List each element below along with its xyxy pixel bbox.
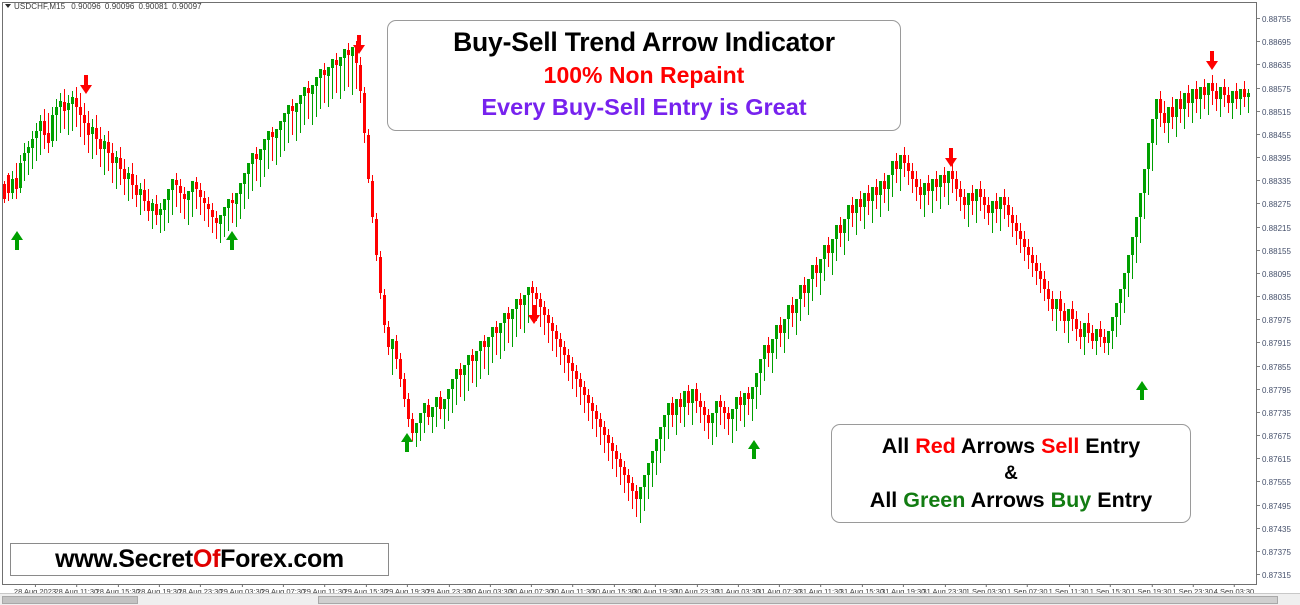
candle-body <box>439 397 442 409</box>
candle-body <box>1091 333 1094 341</box>
candle-body <box>851 205 854 213</box>
price-tick-label: 0.87915 <box>1262 339 1291 348</box>
triangle-down-icon[interactable] <box>5 4 11 8</box>
candle-wick <box>60 93 61 133</box>
candle-body <box>619 459 622 467</box>
candle-body <box>815 265 818 273</box>
candle-wick <box>724 401 725 429</box>
candle-body <box>1235 91 1238 99</box>
candle-body <box>1027 247 1030 255</box>
candle-wick <box>36 123 37 161</box>
candle-body <box>47 133 50 143</box>
buy-arrow-up-icon <box>399 433 415 453</box>
candle-body <box>771 339 774 353</box>
candle-body <box>551 323 554 331</box>
candle-body <box>115 157 118 163</box>
candle-body <box>387 327 390 347</box>
candle-body <box>155 204 158 215</box>
candle-wick <box>600 413 601 445</box>
symbol-ohlc-header: USDCHF,M150.900960.900960.900810.90097 <box>5 2 206 11</box>
candle-body <box>435 397 438 407</box>
candle-body <box>447 389 450 399</box>
price-axis-tick: 0.88155 <box>1257 247 1291 257</box>
candle-wick <box>636 485 637 517</box>
candle-wick <box>596 405 597 437</box>
candle-body <box>911 171 914 179</box>
candle-body <box>399 359 402 379</box>
candle-body <box>971 193 974 201</box>
price-tick-label: 0.87495 <box>1262 502 1291 511</box>
scrollbar-thumb-secondary[interactable] <box>2 596 138 604</box>
candle-body <box>459 369 462 375</box>
candle-body <box>139 189 142 195</box>
candle-body <box>315 77 318 86</box>
candle-body <box>91 127 94 134</box>
price-tick-label: 0.88635 <box>1262 61 1291 70</box>
price-tick-label: 0.88215 <box>1262 224 1291 233</box>
candle-wick <box>608 429 609 461</box>
symbol-label: USDCHF,M15 <box>14 2 65 11</box>
candle-body <box>979 189 982 197</box>
candle-body <box>687 391 690 403</box>
candle-body <box>487 337 490 347</box>
candle-wick <box>212 203 213 233</box>
candle-body <box>1099 329 1102 337</box>
candle-body <box>279 121 282 130</box>
candle-wick <box>256 147 257 181</box>
candle-body <box>55 107 58 115</box>
candle-body <box>211 210 214 217</box>
candle-wick <box>140 183 141 215</box>
candle-body <box>967 193 970 205</box>
candle-body <box>843 219 846 233</box>
candle-body <box>1215 91 1218 99</box>
candle-body <box>775 325 778 339</box>
candle-body <box>303 87 306 96</box>
price-axis-tick: 0.87735 <box>1257 409 1291 419</box>
candle-body <box>531 287 534 293</box>
candle-body <box>1187 93 1190 103</box>
candle-body <box>1243 89 1246 97</box>
ohlc-values: 0.900960.900960.900810.90097 <box>71 2 206 11</box>
price-axis-tick: 0.88755 <box>1257 15 1291 25</box>
candle-body <box>1207 83 1210 95</box>
candle-body <box>975 189 978 201</box>
candle-body <box>819 259 822 273</box>
candle-body <box>483 341 486 347</box>
candle-body <box>927 183 930 191</box>
ohlc-low: 0.90081 <box>138 2 168 11</box>
candle-wick <box>580 373 581 405</box>
price-axis-tick: 0.87315 <box>1257 571 1291 581</box>
candle-body <box>699 401 702 407</box>
candle-body <box>507 313 510 319</box>
candle-body <box>555 331 558 339</box>
candle-body <box>923 183 926 195</box>
candle-body <box>83 115 86 123</box>
candle-body <box>591 403 594 411</box>
candle-body <box>1239 89 1242 99</box>
candle-body <box>1151 119 1154 143</box>
candle-body <box>71 97 74 104</box>
metatrader-chart-window: USDCHF,M150.900960.900960.900810.90097 0… <box>0 0 1300 605</box>
candle-body <box>327 67 330 76</box>
candle-body <box>503 313 506 323</box>
candle-body <box>267 131 270 140</box>
candle-body <box>467 355 470 365</box>
candle-body <box>251 153 254 164</box>
candle-body <box>1063 311 1066 321</box>
candle-body <box>491 327 494 337</box>
candle-body <box>759 359 762 373</box>
candle-wick <box>740 391 741 421</box>
candle-body <box>367 135 370 179</box>
candle-body <box>471 355 474 361</box>
sell-arrow-down-icon <box>526 305 542 325</box>
candle-body <box>747 393 750 399</box>
candle-body <box>75 98 78 107</box>
candle-body <box>1011 215 1014 223</box>
candle-body <box>939 175 942 187</box>
candle-wick <box>180 179 181 213</box>
candle-body <box>1111 317 1114 331</box>
candle-body <box>495 327 498 333</box>
candle-body <box>479 341 482 351</box>
candle-body <box>127 173 130 179</box>
candle-body <box>1123 273 1126 289</box>
candle-body <box>107 142 110 153</box>
candle-body <box>731 409 734 419</box>
candle-body <box>35 131 38 138</box>
price-axis-tick: 0.88275 <box>1257 200 1291 210</box>
price-axis-tick: 0.87855 <box>1257 363 1291 373</box>
candle-body <box>43 121 46 135</box>
candle-body <box>751 387 754 399</box>
candle-body <box>875 187 878 195</box>
watermark-url: www.SecretOfForex.com <box>55 545 344 574</box>
candle-body <box>1019 231 1022 239</box>
candle-body <box>571 363 574 371</box>
candle-body <box>451 379 454 389</box>
price-axis-tick: 0.87495 <box>1257 502 1291 512</box>
candle-body <box>1083 323 1086 337</box>
candle-body <box>103 141 106 149</box>
candle-body <box>655 439 658 451</box>
candle-body <box>363 93 366 133</box>
candle-body <box>1015 223 1018 231</box>
price-axis-tick: 0.88095 <box>1257 270 1291 280</box>
candle-body <box>579 379 582 387</box>
price-axis-tick: 0.87375 <box>1257 548 1291 558</box>
candle-body <box>887 175 890 189</box>
price-axis-tick: 0.87675 <box>1257 432 1291 442</box>
price-tick-label: 0.88275 <box>1262 200 1291 209</box>
candle-body <box>891 161 894 175</box>
candle-body <box>239 183 242 194</box>
candle-body <box>799 285 802 299</box>
candle-wick <box>68 95 69 135</box>
candle-wick <box>592 397 593 429</box>
candle-body <box>123 169 126 179</box>
buy-arrow-up-icon <box>224 231 240 251</box>
candle-body <box>651 451 654 463</box>
candle-body <box>963 197 966 205</box>
candle-wick <box>728 407 729 435</box>
candle-body <box>855 199 858 213</box>
candle-body <box>1131 237 1134 255</box>
price-axis-tick: 0.88695 <box>1257 38 1291 48</box>
price-axis-tick: 0.88575 <box>1257 85 1291 95</box>
candle-body <box>179 186 182 193</box>
candle-body <box>1195 89 1198 99</box>
scrollbar-thumb-main[interactable] <box>318 596 1278 604</box>
candle-body <box>419 413 422 423</box>
candle-wick <box>604 421 605 453</box>
candle-wick <box>160 203 161 233</box>
price-tick-label: 0.87435 <box>1262 525 1291 534</box>
candle-body <box>331 59 334 68</box>
candle-body <box>235 193 238 204</box>
candle-body <box>991 201 994 213</box>
candle-body <box>627 475 630 483</box>
candle-body <box>147 201 150 211</box>
candle-body <box>1167 107 1170 123</box>
candle-body <box>1147 143 1150 169</box>
price-tick-label: 0.87675 <box>1262 432 1291 441</box>
candle-body <box>575 371 578 379</box>
candle-body <box>427 405 430 417</box>
candle-body <box>391 339 394 349</box>
legend-sell-part-0: All <box>882 434 915 458</box>
candle-body <box>567 355 570 363</box>
title-line-3: Every Buy-Sell Entry is Great <box>388 91 900 124</box>
candle-body <box>807 279 810 293</box>
candle-body <box>275 129 278 138</box>
candle-body <box>175 180 178 185</box>
candle-body <box>739 397 742 405</box>
candle-body <box>763 345 766 359</box>
candle-body <box>831 239 834 253</box>
candle-body <box>1223 87 1226 95</box>
candle-body <box>595 411 598 419</box>
candle-wick <box>632 477 633 509</box>
candle-body <box>191 181 194 192</box>
candle-body <box>1199 87 1202 99</box>
candle-body <box>695 389 698 401</box>
candle-body <box>1231 91 1234 103</box>
legend-line-sell: All Red Arrows Sell Entry <box>832 432 1190 461</box>
candle-body <box>51 115 54 141</box>
candle-body <box>1007 205 1010 215</box>
candle-body <box>339 57 342 66</box>
candle-wick <box>32 131 33 169</box>
candle-body <box>587 395 590 403</box>
candle-body <box>683 391 686 407</box>
candle-body <box>859 199 862 207</box>
candle-body <box>583 387 586 395</box>
price-tick-label: 0.88095 <box>1262 270 1291 279</box>
candle-body <box>171 179 174 190</box>
candle-wick <box>588 389 589 421</box>
candle-wick <box>336 53 337 93</box>
candle-body <box>347 50 350 55</box>
candle-body <box>779 325 782 333</box>
candle-body <box>919 187 922 195</box>
candle-body <box>455 369 458 379</box>
legend-sell-part-1: Red <box>915 434 956 458</box>
title-line-1: Buy-Sell Trend Arrow Indicator <box>388 26 900 59</box>
candle-body <box>295 103 298 112</box>
price-axis-tick: 0.88635 <box>1257 61 1291 71</box>
watermark-highlight: Of <box>193 545 220 573</box>
candle-wick <box>200 183 201 215</box>
candle-body <box>635 491 638 499</box>
candle-body <box>207 204 210 209</box>
candle-body <box>803 285 806 293</box>
candle-body <box>795 299 798 313</box>
candle-body <box>811 265 814 279</box>
price-axis-tick: 0.87795 <box>1257 386 1291 396</box>
price-tick-label: 0.87975 <box>1262 316 1291 325</box>
candle-body <box>1051 299 1054 309</box>
candle-body <box>167 189 170 200</box>
candle-body <box>519 299 522 305</box>
legend-sell-part-4: Entry <box>1079 434 1140 458</box>
candle-body <box>463 365 466 375</box>
price-tick-label: 0.87735 <box>1262 409 1291 418</box>
candle-wick <box>628 469 629 501</box>
candle-body <box>411 419 414 433</box>
candle-body <box>643 475 646 487</box>
candle-body <box>283 113 286 122</box>
candle-body <box>423 403 426 413</box>
candle-body <box>379 257 382 293</box>
candle-body <box>19 163 22 188</box>
candle-body <box>935 179 938 187</box>
sell-arrow-down-icon <box>1204 51 1220 71</box>
candle-body <box>11 179 14 193</box>
candle-body <box>839 225 842 233</box>
candle-body <box>955 179 958 189</box>
candle-wick <box>76 87 77 127</box>
candle-body <box>311 85 314 94</box>
candle-body <box>639 487 642 499</box>
candle-body <box>99 139 102 149</box>
candle-body <box>827 245 830 253</box>
candle-body <box>647 463 650 475</box>
candle-body <box>1067 309 1070 321</box>
candle-body <box>1071 309 1074 319</box>
candle-body <box>431 407 434 417</box>
price-axis[interactable]: 0.887550.886950.886350.885750.885150.884… <box>1256 2 1300 585</box>
candle-body <box>755 373 758 387</box>
candle-body <box>131 174 134 185</box>
price-tick-label: 0.87315 <box>1262 571 1291 580</box>
candle-body <box>947 171 950 183</box>
candle-body <box>735 397 738 409</box>
candle-body <box>475 351 478 361</box>
candle-body <box>111 153 114 163</box>
candle-body <box>999 197 1002 209</box>
price-tick-label: 0.88575 <box>1262 85 1291 94</box>
candle-body <box>1087 323 1090 333</box>
price-tick-label: 0.88755 <box>1262 15 1291 24</box>
candle-body <box>27 147 30 153</box>
sell-arrow-down-icon <box>943 148 959 168</box>
candle-body <box>863 193 866 207</box>
candle-body <box>259 149 262 160</box>
candle-body <box>263 139 266 150</box>
candle-body <box>1159 99 1162 113</box>
candle-body <box>1247 93 1250 97</box>
candle-body <box>143 190 146 201</box>
candle-body <box>243 173 246 184</box>
candle-body <box>675 399 678 415</box>
watermark-prefix: www.Secret <box>55 545 193 573</box>
candle-body <box>847 205 850 219</box>
candle-body <box>1143 169 1146 193</box>
candle-body <box>559 339 562 347</box>
candle-body <box>599 419 602 427</box>
candle-body <box>631 483 634 491</box>
candle-body <box>1139 193 1142 217</box>
candle-body <box>1227 95 1230 103</box>
candle-wick <box>292 99 293 135</box>
legend-sell-part-2: Arrows <box>956 434 1041 458</box>
price-tick-label: 0.87555 <box>1262 478 1291 487</box>
candle-body <box>95 128 98 139</box>
candle-body <box>1127 255 1130 273</box>
candle-wick <box>564 341 565 373</box>
price-tick-label: 0.87375 <box>1262 548 1291 557</box>
candle-body <box>943 175 946 183</box>
candle-body <box>743 393 746 405</box>
candle-body <box>1107 331 1110 343</box>
candle-wick <box>232 193 233 223</box>
candle-body <box>15 178 18 189</box>
candle-body <box>871 187 874 201</box>
price-tick-label: 0.88155 <box>1262 247 1291 256</box>
candle-wick <box>576 365 577 397</box>
candle-body <box>543 307 546 315</box>
candle-body <box>375 219 378 255</box>
candle-body <box>67 103 70 110</box>
candle-body <box>883 181 886 189</box>
candle-wick <box>616 445 617 477</box>
candle-body <box>163 199 166 210</box>
candle-body <box>723 407 726 413</box>
candle-body <box>1039 271 1042 279</box>
candle-body <box>1047 289 1050 299</box>
candle-wick <box>624 461 625 493</box>
candle-body <box>719 401 722 407</box>
candle-body <box>787 305 790 319</box>
candle-body <box>63 102 66 111</box>
candle-wick <box>612 437 613 469</box>
candle-body <box>691 389 694 403</box>
candle-body <box>87 123 90 135</box>
price-tick-label: 0.87795 <box>1262 386 1291 395</box>
candle-body <box>611 443 614 451</box>
legend-line-buy: All Green Arrows Buy Entry <box>832 486 1190 515</box>
candle-body <box>159 209 162 215</box>
candle-body <box>983 197 986 205</box>
horizontal-scrollbar[interactable] <box>0 593 1300 605</box>
buy-arrow-up-icon <box>9 231 25 251</box>
candle-body <box>1191 89 1194 103</box>
candle-body <box>1035 263 1038 271</box>
candle-body <box>299 95 302 104</box>
